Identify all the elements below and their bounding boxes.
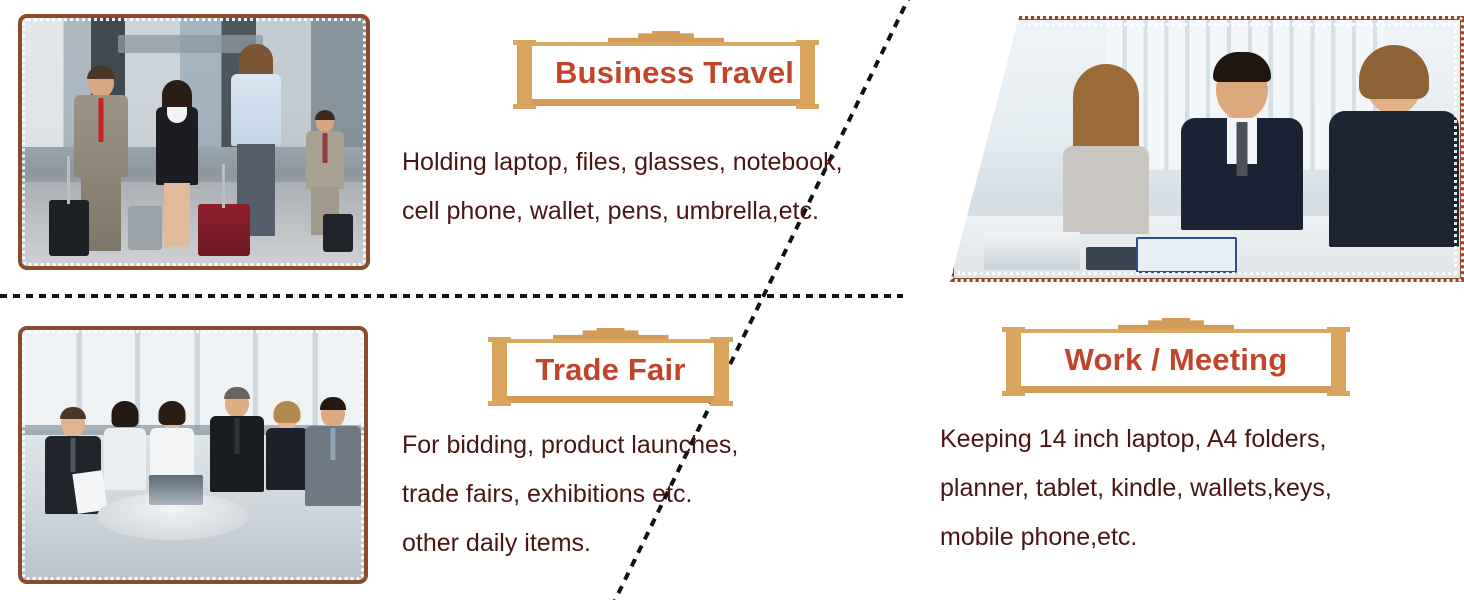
- report-document: [1136, 237, 1237, 273]
- banner-trade-fair: Trade Fair: [500, 339, 721, 403]
- description-line: Keeping 14 inch laptop, A4 folders,: [940, 415, 1332, 464]
- tie: [1237, 122, 1248, 176]
- banner-bracket-left: [1006, 327, 1021, 396]
- tie: [322, 133, 327, 163]
- head: [1086, 72, 1126, 118]
- desk-surface: [954, 216, 1460, 278]
- banner-crown-ornament: [553, 328, 669, 339]
- traveler-woman-blue-shirt: [222, 48, 291, 256]
- torso: [1329, 111, 1459, 247]
- description-business-travel: Holding laptop, files, glasses, notebook…: [402, 138, 843, 236]
- banner-plate: Trade Fair: [500, 339, 721, 403]
- title-trade-fair: Trade Fair: [530, 350, 691, 390]
- hair: [1073, 64, 1139, 168]
- photo-business-travel: [18, 14, 370, 270]
- laptop: [149, 475, 204, 505]
- banner-crown-ornament: [608, 31, 724, 42]
- suitcase-handle: [67, 156, 70, 204]
- hair: [111, 401, 138, 427]
- banner-bracket-right: [1331, 327, 1346, 396]
- photo-business-travel-scene: [22, 18, 366, 266]
- description-line: Holding laptop, files, glasses, notebook…: [402, 138, 843, 187]
- head: [1366, 51, 1422, 115]
- hair: [274, 401, 301, 423]
- description-line: planner, tablet, kindle, wallets,keys,: [940, 464, 1332, 513]
- tie: [331, 428, 336, 460]
- hair: [87, 66, 115, 79]
- tie: [235, 418, 240, 454]
- colleague-man-center: [1177, 56, 1309, 252]
- red-tie: [99, 98, 104, 142]
- photo-work-meeting-frame: [950, 16, 1464, 282]
- colleague-right-back: [1328, 51, 1460, 278]
- description-trade-fair: For bidding, product launches, trade fai…: [402, 421, 738, 568]
- suitcase: [323, 214, 353, 252]
- banner-plate: Business Travel: [525, 42, 807, 106]
- dashed-horizontal-divider: [0, 294, 903, 298]
- torso: [104, 428, 146, 490]
- banner-bracket-left: [517, 40, 532, 109]
- description-line: other daily items.: [402, 519, 738, 568]
- tie: [71, 438, 76, 472]
- legs: [164, 183, 190, 247]
- torso: [231, 74, 281, 146]
- description-line: cell phone, wallet, pens, umbrella,etc.: [402, 187, 843, 236]
- attendee-6: [302, 400, 364, 575]
- shirt: [1227, 118, 1257, 164]
- hair: [1359, 45, 1429, 99]
- banner-work-meeting: Work / Meeting: [1014, 329, 1338, 393]
- photo-work-meeting: [950, 16, 1464, 282]
- hair: [1213, 52, 1271, 82]
- suitcase: [49, 200, 89, 256]
- torso: [1181, 118, 1303, 230]
- hair: [315, 110, 335, 120]
- head: [1216, 60, 1268, 120]
- banner-bracket-right: [800, 40, 815, 109]
- laptop: [984, 232, 1080, 271]
- banner-crown-ornament: [1118, 318, 1234, 329]
- photo-trade-fair: [18, 326, 368, 584]
- title-business-travel: Business Travel: [555, 53, 777, 93]
- title-work-meeting: Work / Meeting: [1044, 340, 1308, 380]
- torso: [1063, 146, 1149, 234]
- banner-bracket-left: [492, 337, 507, 406]
- colleague-woman-left: [1055, 72, 1156, 232]
- red-suitcase: [198, 204, 250, 256]
- photo-trade-fair-scene: [22, 330, 364, 580]
- description-line: mobile phone,etc.: [940, 513, 1332, 562]
- banner-business-travel: Business Travel: [525, 42, 807, 106]
- suitcase-handle: [222, 164, 225, 208]
- tablet: [1086, 247, 1147, 270]
- description-line: trade fairs, exhibitions etc.: [402, 470, 738, 519]
- infographic-canvas: Business Travel Holding laptop, files, g…: [0, 0, 1464, 600]
- traveler-man-background: [297, 112, 352, 256]
- suitcase: [128, 206, 162, 250]
- description-line: For bidding, product launches,: [402, 421, 738, 470]
- description-work-meeting: Keeping 14 inch laptop, A4 folders, plan…: [940, 415, 1332, 562]
- window-blinds: [1106, 20, 1384, 170]
- hair: [159, 401, 186, 425]
- office-background: [954, 20, 1460, 278]
- banner-plate: Work / Meeting: [1014, 329, 1338, 393]
- banner-bracket-right: [714, 337, 729, 406]
- photo-work-meeting-scene: [954, 20, 1460, 278]
